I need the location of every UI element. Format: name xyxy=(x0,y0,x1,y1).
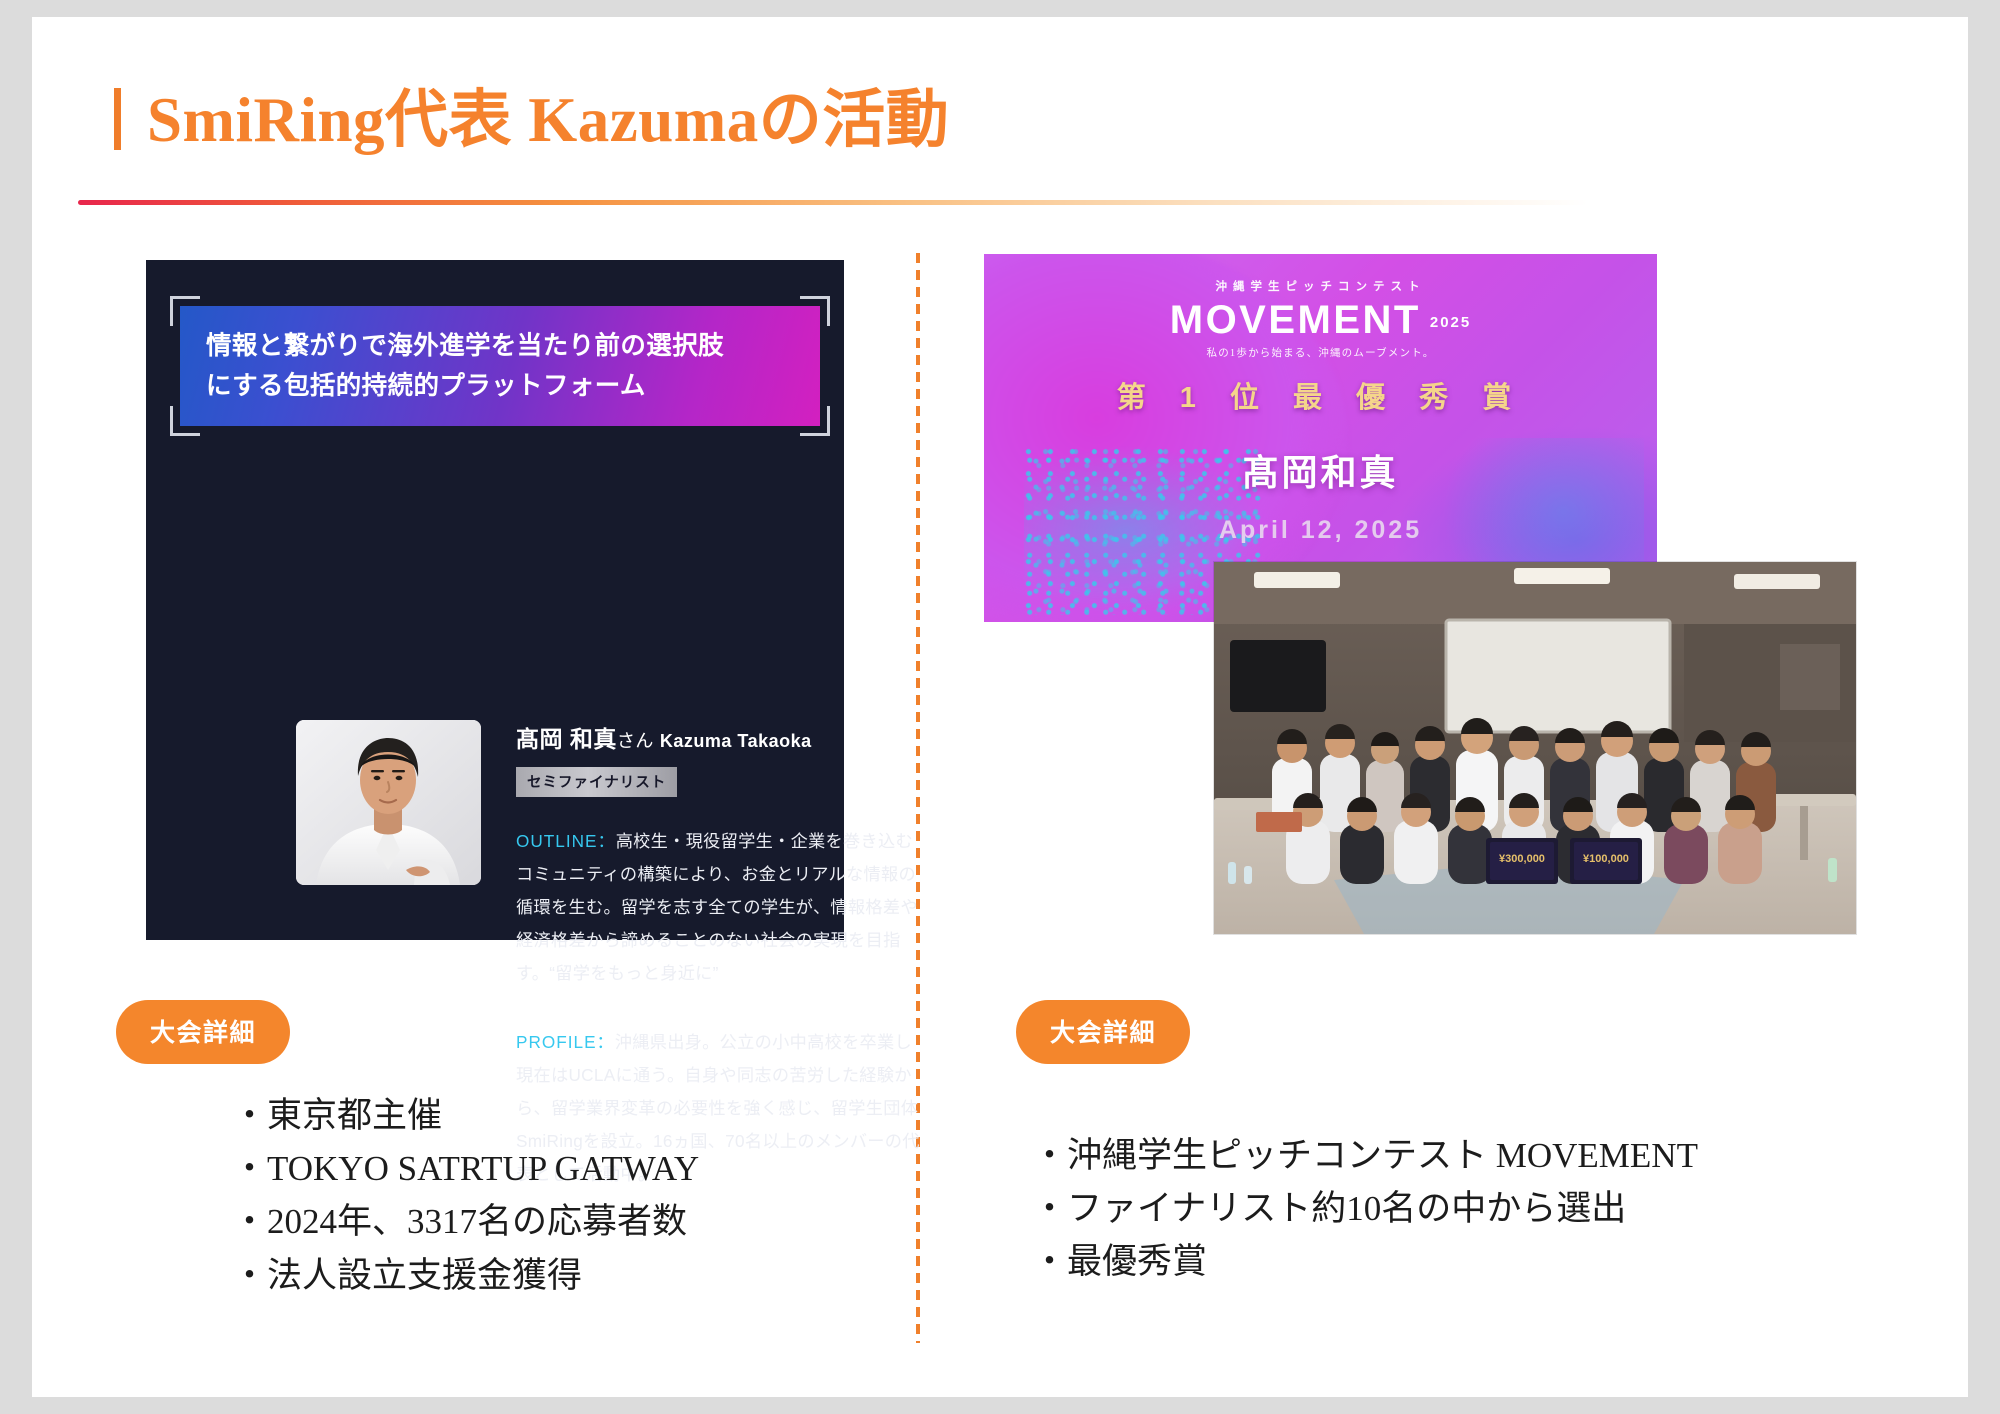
person-name-line: 髙岡 和真さんKazuma Takaoka xyxy=(516,720,926,754)
award-winner-name: 髙岡和真 xyxy=(984,444,1657,496)
list-item: ・東京都主催 xyxy=(232,1089,699,1142)
profile-label: PROFILE： xyxy=(516,1032,615,1052)
portrait-illustration-icon xyxy=(296,720,481,885)
list-item: ・最優秀賞 xyxy=(1032,1235,1698,1288)
right-section-pill: 大会詳細 xyxy=(1016,1000,1190,1064)
award-date: April 12, 2025 xyxy=(984,516,1657,545)
person-name-suffix: さん xyxy=(617,731,654,751)
card-banner: 情報と繋がりで海外進学を当たり前の選択肢 にする包括的持続的プラットフォーム xyxy=(180,306,820,426)
list-item: ・ファイナリスト約10名の中から選出 xyxy=(1032,1182,1698,1235)
outline-paragraph: OUTLINE：高校生・現役留学生・企業を巻き込むコミュニティの構築により、お金… xyxy=(516,825,926,990)
banner-line-2: にする包括的持続的プラットフォーム xyxy=(206,366,794,406)
movement-word: MOVEMENT xyxy=(1170,298,1421,342)
corner-bracket-bottom-right-icon xyxy=(800,406,830,436)
slide-title-row: SmiRing代表 Kazumaの活動 xyxy=(114,69,949,160)
person-name: 髙岡 和真 xyxy=(516,726,617,752)
group-photo-illustration-icon: ¥300,000 ¥100,000 xyxy=(1214,562,1856,934)
outline-label: OUTLINE： xyxy=(516,831,616,851)
banner-line-1: 情報と繋がりで海外進学を当たり前の選択肢 xyxy=(206,326,794,366)
movement-tagline: 私の1歩から始まる、沖縄のムーブメント。 xyxy=(984,345,1657,360)
title-accent-bar xyxy=(114,88,121,150)
group-photo: ¥300,000 ¥100,000 xyxy=(1214,562,1856,934)
svg-text:¥100,000: ¥100,000 xyxy=(1583,853,1629,865)
left-profile-card: 情報と繋がりで海外進学を当たり前の選択肢 にする包括的持続的プラットフォーム xyxy=(146,260,844,940)
person-name-romanized: Kazuma Takaoka xyxy=(660,731,812,751)
card-banner-frame: 情報と繋がりで海外進学を当たり前の選択肢 にする包括的持続的プラットフォーム xyxy=(180,306,820,426)
left-section-pill: 大会詳細 xyxy=(116,1000,290,1064)
list-item: ・法人設立支援金獲得 xyxy=(232,1249,699,1302)
list-item: ・TOKYO SATRTUP GATWAY xyxy=(232,1142,699,1195)
status-badge: セミファイナリスト xyxy=(516,767,677,797)
outline-body: 高校生・現役留学生・企業を巻き込むコミュニティの構築により、お金とリアルな情報の… xyxy=(516,831,918,983)
award-rank-text: 第 1 位 最 優 秀 賞 xyxy=(984,374,1657,416)
right-bullet-list: ・沖縄学生ピッチコンテスト MOVEMENT ・ファイナリスト約10名の中から選… xyxy=(1032,1129,1698,1289)
list-item: ・2024年、3317名の応募者数 xyxy=(232,1195,699,1248)
movement-year: 2025 xyxy=(1430,314,1471,331)
movement-kicker: 沖縄学生ピッチコンテスト xyxy=(984,278,1657,294)
title-gradient-divider xyxy=(78,200,1588,205)
svg-text:¥300,000: ¥300,000 xyxy=(1499,853,1545,865)
movement-wordmark: MOVEMENT2025 xyxy=(1170,297,1472,343)
corner-bracket-top-left-icon xyxy=(170,296,200,326)
movement-logo: 沖縄学生ピッチコンテスト MOVEMENT2025 私の1歩から始まる、沖縄のム… xyxy=(984,278,1657,360)
presentation-slide: SmiRing代表 Kazumaの活動 情報と繋がりで海外進学を当たり前の選択肢… xyxy=(32,17,1968,1397)
corner-bracket-bottom-left-icon xyxy=(170,406,200,436)
list-item: ・沖縄学生ピッチコンテスト MOVEMENT xyxy=(1032,1129,1698,1182)
corner-bracket-top-right-icon xyxy=(800,296,830,326)
portrait-photo xyxy=(296,720,481,885)
page-title: SmiRing代表 Kazumaの活動 xyxy=(147,69,949,160)
left-bullet-list: ・東京都主催 ・TOKYO SATRTUP GATWAY ・2024年、3317… xyxy=(232,1089,699,1302)
